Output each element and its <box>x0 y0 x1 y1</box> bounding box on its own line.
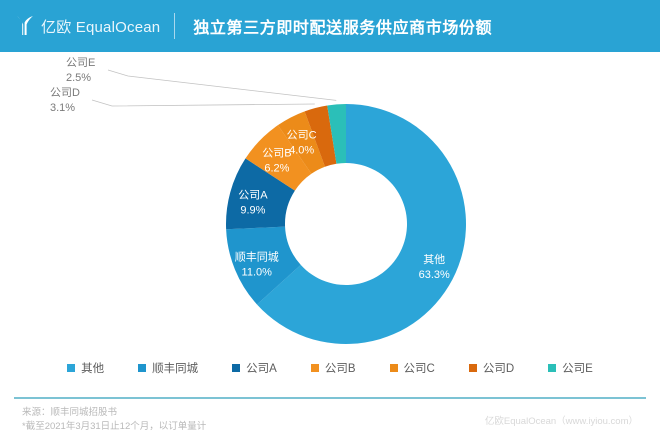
legend-item[interactable]: 公司D <box>469 360 514 376</box>
slice-category-label: 其他 <box>423 253 445 266</box>
legend-label: 公司C <box>404 360 435 376</box>
slice-category-label: 公司A <box>238 190 268 202</box>
slice-category-label: 公司D <box>50 87 80 99</box>
legend-label: 公司D <box>483 360 514 376</box>
legend-swatch-icon <box>548 364 556 372</box>
page-footer: 来源：顺丰同城招股书 *截至2021年3月31日止12个月，以订单量计 亿欧Eq… <box>0 403 660 438</box>
slice-value-label: 9.9% <box>240 205 265 217</box>
equalocean-y-logo-icon <box>14 14 36 38</box>
legend-label: 其他 <box>81 360 104 376</box>
slice-leader-line <box>108 70 336 100</box>
legend-swatch-icon <box>469 364 477 372</box>
legend-label: 顺丰同城 <box>152 360 198 376</box>
slice-value-label: 11.0% <box>242 267 273 279</box>
slice-leader-line <box>92 100 315 106</box>
footer-source-block: 来源：顺丰同城招股书 *截至2021年3月31日止12个月，以订单量计 <box>22 406 206 434</box>
page-title: 独立第三方即时配送服务供应商市场份额 <box>193 14 492 38</box>
legend-label: 公司A <box>246 360 277 376</box>
footer-note-line: *截至2021年3月31日止12个月，以订单量计 <box>22 420 206 434</box>
brand-logo: 亿欧 EqualOcean <box>0 0 160 52</box>
legend-label: 公司E <box>562 360 593 376</box>
footer-source-line: 来源：顺丰同城招股书 <box>22 406 206 420</box>
page-header: 亿欧 EqualOcean 独立第三方即时配送服务供应商市场份额 <box>0 0 660 52</box>
legend-item[interactable]: 顺丰同城 <box>138 360 198 376</box>
legend-label: 公司B <box>325 360 356 376</box>
donut-chart: 其他63.3%顺丰同城11.0%公司A9.9%公司B6.2%公司C4.0%公司D… <box>0 52 660 352</box>
donut-slice-group <box>226 104 466 344</box>
slice-category-label: 顺丰同城 <box>235 251 279 264</box>
legend-swatch-icon <box>390 364 398 372</box>
slice-category-label: 公司C <box>287 129 317 141</box>
footer-attribution: 亿欧EqualOcean（www.iyiou.com） <box>485 413 638 427</box>
header-divider <box>174 13 175 39</box>
brand-name: 亿欧 EqualOcean <box>41 16 160 37</box>
donut-chart-svg: 其他63.3%顺丰同城11.0%公司A9.9%公司B6.2%公司C4.0%公司D… <box>0 52 660 352</box>
footer-divider <box>14 397 646 399</box>
legend-item[interactable]: 公司B <box>311 360 356 376</box>
slice-value-label: 4.0% <box>289 144 314 156</box>
legend-swatch-icon <box>232 364 240 372</box>
leader-line-group <box>92 70 336 106</box>
slice-value-label: 6.2% <box>264 163 289 175</box>
legend-swatch-icon <box>311 364 319 372</box>
slice-value-label: 63.3% <box>419 269 450 281</box>
legend-item[interactable]: 公司C <box>390 360 435 376</box>
slice-category-label: 公司B <box>262 148 291 160</box>
legend-item[interactable]: 公司A <box>232 360 277 376</box>
slice-value-label: 2.5% <box>66 72 91 84</box>
chart-legend: 其他顺丰同城公司A公司B公司C公司D公司E <box>0 358 660 378</box>
slice-category-label: 公司E <box>66 57 95 69</box>
legend-item[interactable]: 公司E <box>548 360 593 376</box>
legend-swatch-icon <box>138 364 146 372</box>
slice-value-label: 3.1% <box>50 102 75 114</box>
legend-swatch-icon <box>67 364 75 372</box>
legend-item[interactable]: 其他 <box>67 360 104 376</box>
